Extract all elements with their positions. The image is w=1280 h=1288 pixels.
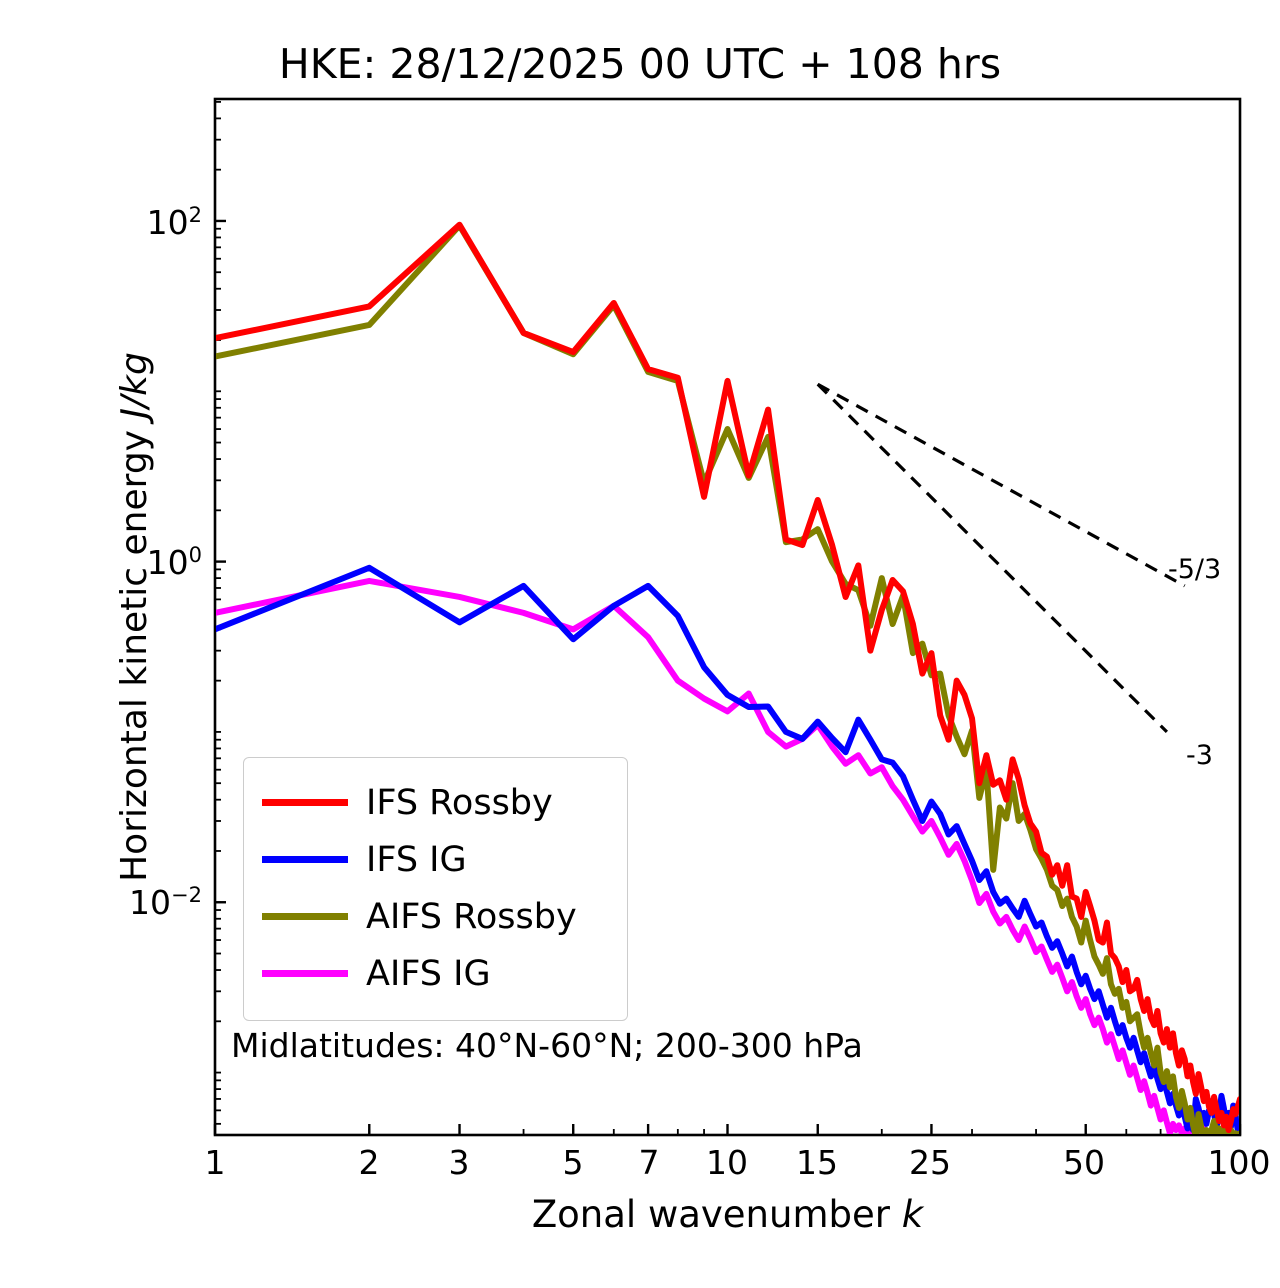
plot-area bbox=[0, 0, 1280, 1288]
legend-swatch-ifs-rossby bbox=[262, 799, 348, 806]
legend-label-aifs-ig: AIFS IG bbox=[366, 954, 491, 994]
legend-item[interactable]: IFS Rossby bbox=[262, 774, 609, 831]
legend-label-ifs-ig: IFS IG bbox=[366, 840, 467, 880]
legend-item[interactable]: IFS IG bbox=[262, 831, 609, 888]
slope-label-53: -5/3 bbox=[1168, 554, 1221, 585]
legend-item[interactable]: AIFS IG bbox=[262, 945, 609, 1002]
legend-swatch-aifs-ig bbox=[262, 970, 348, 977]
legend-label-aifs-rossby: AIFS Rossby bbox=[366, 897, 577, 937]
legend-swatch-ifs-ig bbox=[262, 856, 348, 863]
legend-label-ifs-rossby: IFS Rossby bbox=[366, 783, 553, 823]
slope-label-3: -3 bbox=[1186, 740, 1213, 771]
reference-slope-lines bbox=[818, 384, 1185, 732]
legend-item[interactable]: AIFS Rossby bbox=[262, 888, 609, 945]
figure-canvas: HKE: 28/12/2025 00 UTC + 108 hrs Horizon… bbox=[0, 0, 1280, 1288]
legend-box: IFS Rossby IFS IG AIFS Rossby AIFS IG bbox=[243, 757, 628, 1021]
region-annotation: Midlatitudes: 40°N-60°N; 200-300 hPa bbox=[231, 1026, 863, 1065]
slope-line-3 bbox=[818, 384, 1167, 732]
slope-line-53 bbox=[818, 384, 1185, 586]
legend-swatch-aifs-rossby bbox=[262, 913, 348, 920]
